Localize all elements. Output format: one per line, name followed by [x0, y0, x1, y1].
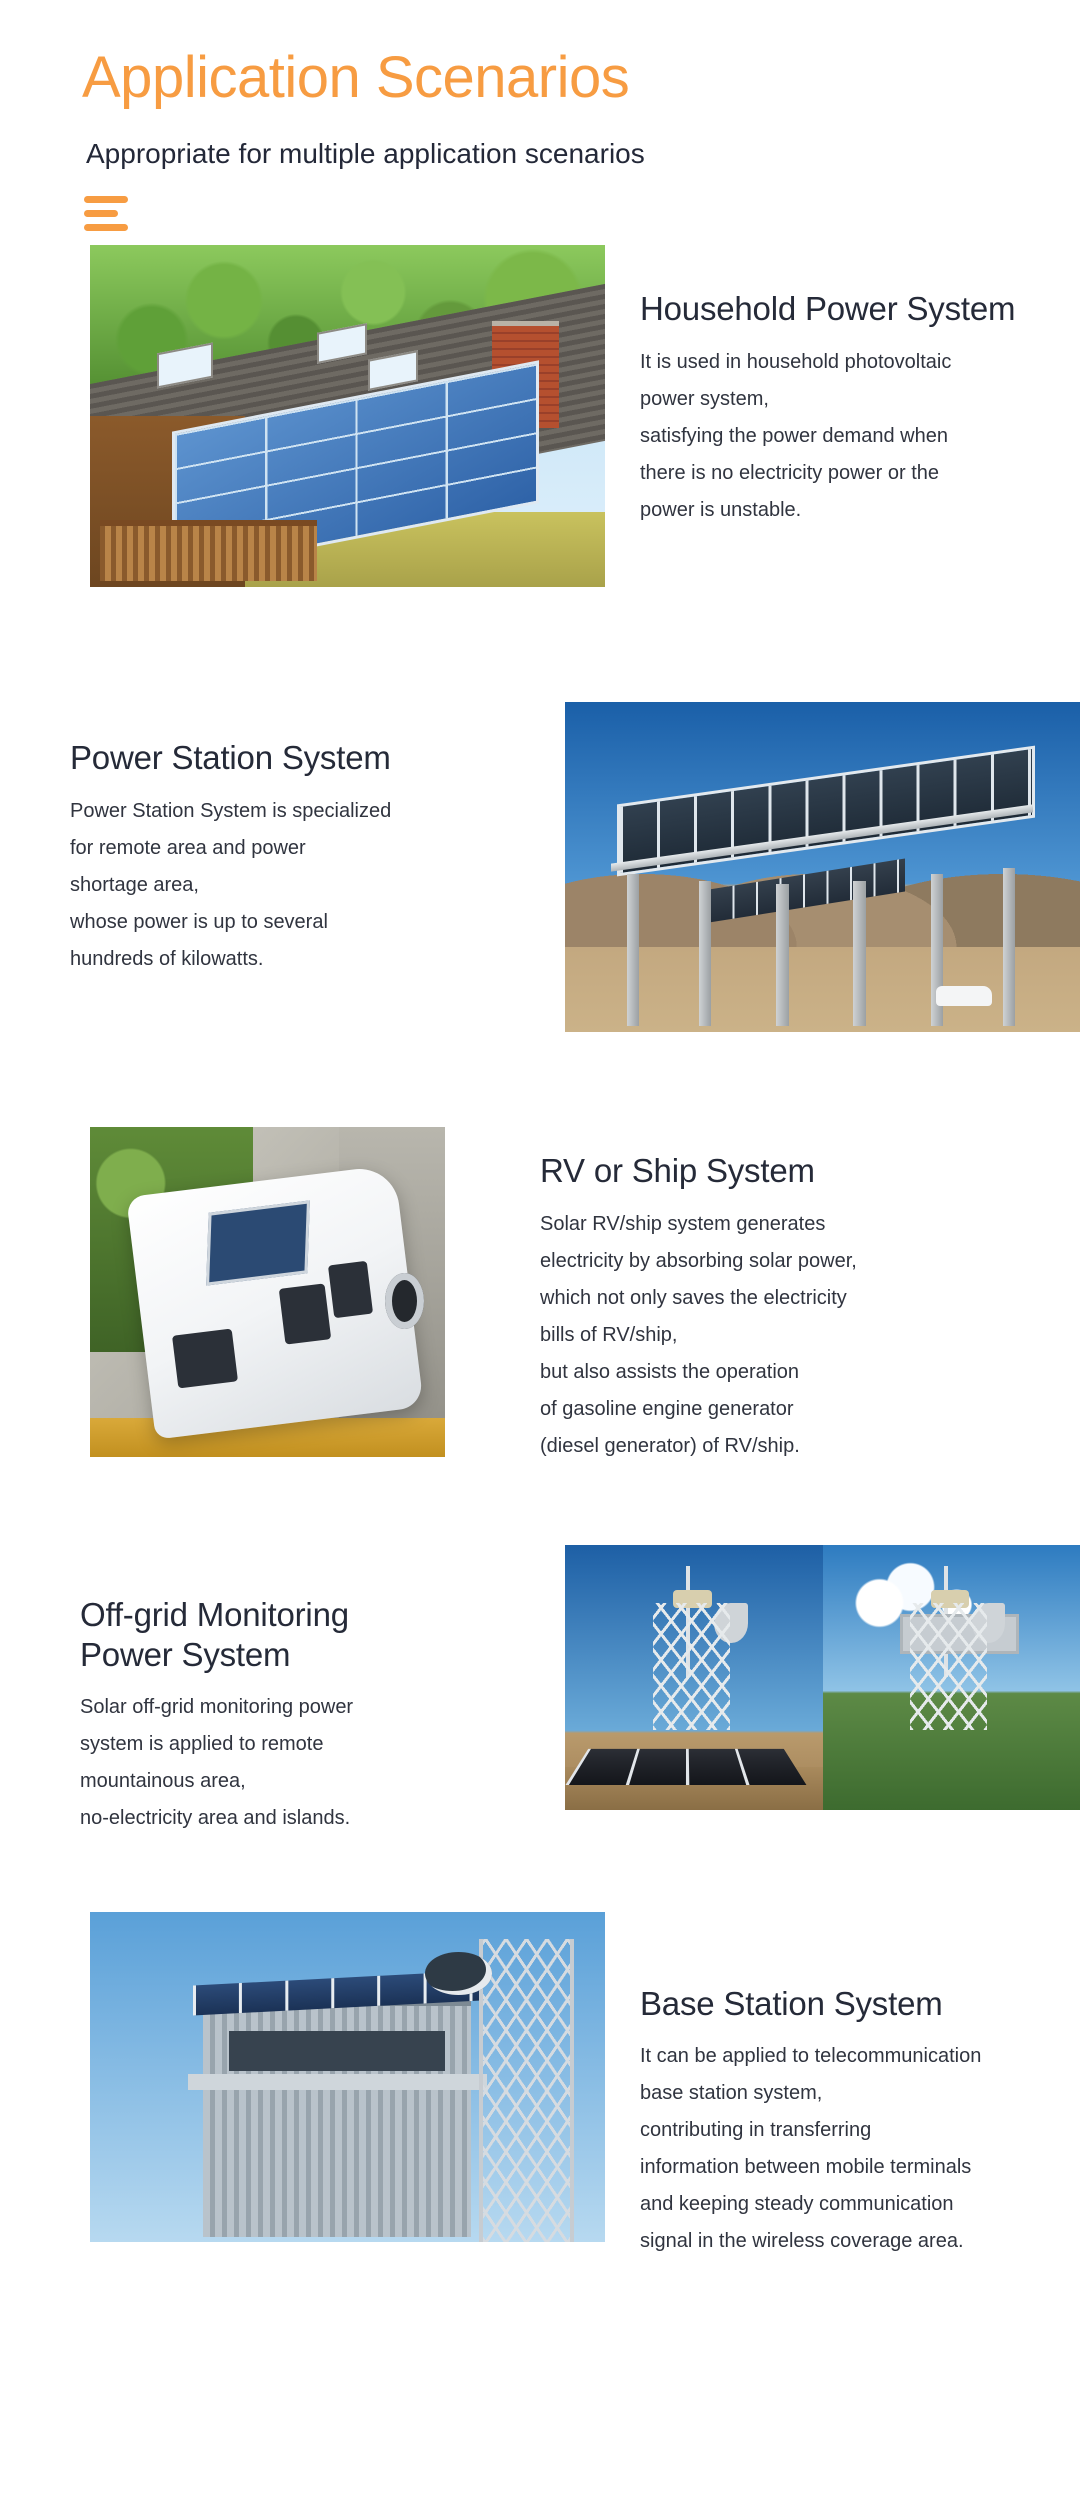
van-wheel	[385, 1273, 424, 1329]
van-roof-solar-panel	[206, 1200, 310, 1285]
section-body-power-station: Power Station System is specialized for …	[70, 793, 539, 978]
scenario-section-power-station: Power Station System Power Station Syste…	[0, 702, 1080, 1032]
scenario-section-rv-ship: RV or Ship System Solar RV/ship system g…	[0, 1127, 1080, 1464]
section-title-power-station: Power Station System	[70, 738, 539, 778]
section-title-rv-ship: RV or Ship System	[540, 1151, 1080, 1191]
support-post	[627, 874, 639, 1026]
hamburger-bar-middle	[84, 210, 118, 217]
page-title: Application Scenarios	[82, 48, 1080, 109]
page-header: Application Scenarios Appropriate for mu…	[0, 0, 1080, 231]
wooden-balcony-railing	[100, 520, 316, 581]
monitoring-tower-left-photo	[565, 1545, 823, 1810]
off-grid-monitoring-image	[565, 1545, 1080, 1810]
base-station-system-image	[90, 1912, 605, 2242]
rv-ship-copy-block: RV or Ship System Solar RV/ship system g…	[445, 1127, 1080, 1464]
van-rear-window	[172, 1329, 238, 1389]
hamburger-bar-top	[84, 196, 128, 203]
off-grid-copy-block: Off-grid Monitoring Power System Solar o…	[60, 1545, 565, 1838]
section-body-household: It is used in household photovoltaic pow…	[640, 344, 1080, 529]
support-post	[1003, 868, 1015, 1026]
rv-or-ship-system-image	[90, 1127, 445, 1457]
white-pickup-truck	[936, 986, 993, 1006]
section-body-base-station: It can be applied to telecommunication b…	[640, 2038, 1080, 2260]
van-side-window	[278, 1283, 331, 1344]
support-post	[853, 881, 865, 1026]
application-scenarios-page: Application Scenarios Appropriate for mu…	[0, 0, 1080, 2495]
section-body-rv-ship: Solar RV/ship system generates electrici…	[540, 1206, 1080, 1465]
microwave-dish	[425, 1952, 492, 1995]
hamburger-icon[interactable]	[84, 196, 128, 231]
section-title-base-station: Base Station System	[640, 1984, 1080, 2024]
page-subtitle: Appropriate for multiple application sce…	[86, 137, 1080, 171]
section-title-off-grid: Off-grid Monitoring Power System	[80, 1595, 539, 1676]
household-copy-block: Household Power System It is used in hou…	[605, 245, 1080, 528]
section-body-off-grid: Solar off-grid monitoring power system i…	[80, 1689, 539, 1837]
building-walkway-deck	[188, 2074, 487, 2091]
base-station-copy-block: Base Station System It can be applied to…	[605, 1912, 1080, 2260]
building-window-band	[229, 2031, 445, 2071]
scenario-section-base-station: Base Station System It can be applied to…	[0, 1912, 1080, 2260]
monitoring-tower-right-photo	[823, 1545, 1080, 1810]
section-title-household: Household Power System	[640, 289, 1080, 329]
household-power-system-image	[90, 245, 605, 587]
support-post	[776, 884, 788, 1026]
support-post	[699, 881, 711, 1026]
power-station-system-image	[565, 702, 1080, 1032]
scenario-section-household: Household Power System It is used in hou…	[0, 245, 1080, 587]
power-station-copy-block: Power Station System Power Station Syste…	[60, 702, 565, 977]
van-front-window	[328, 1261, 373, 1318]
telecom-lattice-tower	[479, 1939, 575, 2243]
hamburger-bar-bottom	[84, 224, 128, 231]
scenario-section-off-grid-monitoring: Off-grid Monitoring Power System Solar o…	[0, 1545, 1080, 1838]
lattice-tower	[910, 1603, 987, 1730]
lattice-tower	[653, 1603, 730, 1730]
